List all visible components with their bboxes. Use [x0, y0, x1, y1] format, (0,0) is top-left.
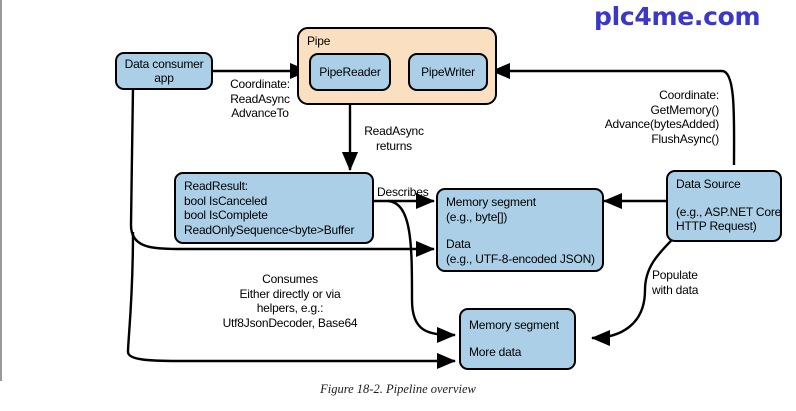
node-read-result-line2: bool IsCanceled: [184, 194, 365, 209]
node-pipewriter-label: PipeWriter: [421, 65, 475, 80]
node-pipereader-label: PipeReader: [319, 65, 380, 80]
label-coordinate-reader: Coordinate: ReadAsync AdvanceTo: [212, 77, 308, 121]
label-coordinate-reader-line2: ReadAsync: [212, 92, 308, 107]
node-memory-segment-2-gap: [469, 333, 567, 345]
node-data-source-line1: Data Source: [676, 177, 773, 192]
node-data-source-line3: HTTP Request): [676, 219, 773, 234]
node-pipewriter[interactable]: PipeWriter: [408, 53, 488, 91]
label-consumes-line4: Utf8JsonDecoder, Base64: [150, 316, 430, 331]
node-memory-segment-1-line4: (e.g., UTF-8-encoded JSON): [446, 252, 595, 267]
node-data-source-gap: [676, 192, 773, 205]
label-consumes-line2: Either directly or via: [150, 287, 430, 302]
node-read-result-line3: bool IsComplete: [184, 208, 365, 223]
node-pipe-title: Pipe: [307, 34, 488, 49]
node-memory-segment-1-line3: Data: [446, 237, 595, 252]
label-describes-line1: Describes: [377, 185, 429, 200]
figure-caption: Figure 18-2. Pipeline overview: [0, 382, 796, 397]
label-populate-with-data-line2: with data: [652, 283, 698, 298]
node-data-consumer-app[interactable]: Data consumer app: [115, 52, 213, 90]
node-memory-segment-1-line2: (e.g., byte[]): [446, 210, 595, 225]
label-coordinate-writer: Coordinate: GetMemory() Advance(bytesAdd…: [590, 88, 719, 146]
label-coordinate-reader-line1: Coordinate:: [212, 77, 308, 92]
node-read-result-line4: ReadOnlySequence<byte>Buffer: [184, 223, 365, 238]
node-memory-segment-1-gap: [446, 224, 595, 237]
node-memory-segment-1-line1: Memory segment: [446, 195, 595, 210]
node-read-result[interactable]: ReadResult: bool IsCanceled bool IsCompl…: [174, 172, 374, 244]
label-consumes-line1: Consumes: [150, 272, 430, 287]
label-read-async-returns: ReadAsync returns: [352, 124, 436, 153]
label-coordinate-reader-line3: AdvanceTo: [212, 106, 308, 121]
label-populate-with-data: Populate with data: [652, 268, 698, 297]
node-data-source-line2: (e.g., ASP.NET Core: [676, 205, 773, 220]
node-memory-segment-2-line2: More data: [469, 345, 567, 360]
label-read-async-returns-line1: ReadAsync: [352, 124, 436, 139]
label-coordinate-writer-line2: GetMemory(): [590, 103, 719, 118]
label-coordinate-writer-line1: Coordinate:: [590, 88, 719, 103]
figure-canvas: provider. plc4me.com: [0, 0, 796, 411]
label-read-async-returns-line2: returns: [352, 139, 436, 154]
node-memory-segment-2-line1: Memory segment: [469, 318, 567, 333]
node-memory-segment-2[interactable]: Memory segment More data: [459, 308, 576, 370]
label-coordinate-writer-line3: Advance(bytesAdded): [590, 117, 719, 132]
node-pipereader[interactable]: PipeReader: [309, 53, 391, 91]
node-memory-segment-1[interactable]: Memory segment (e.g., byte[]) Data (e.g.…: [436, 188, 604, 272]
label-consumes-line3: helpers, e.g.:: [150, 301, 430, 316]
label-populate-with-data-line1: Populate: [652, 268, 698, 283]
node-data-consumer-app-line2: app: [154, 71, 173, 86]
label-describes: Describes: [377, 185, 429, 200]
label-coordinate-writer-line4: FlushAsync(): [590, 132, 719, 147]
node-data-source[interactable]: Data Source (e.g., ASP.NET Core HTTP Req…: [666, 170, 782, 242]
label-consumes: Consumes Either directly or via helpers,…: [150, 272, 430, 330]
node-data-consumer-app-line1: Data consumer: [125, 57, 204, 72]
node-read-result-line1: ReadResult:: [184, 179, 365, 194]
